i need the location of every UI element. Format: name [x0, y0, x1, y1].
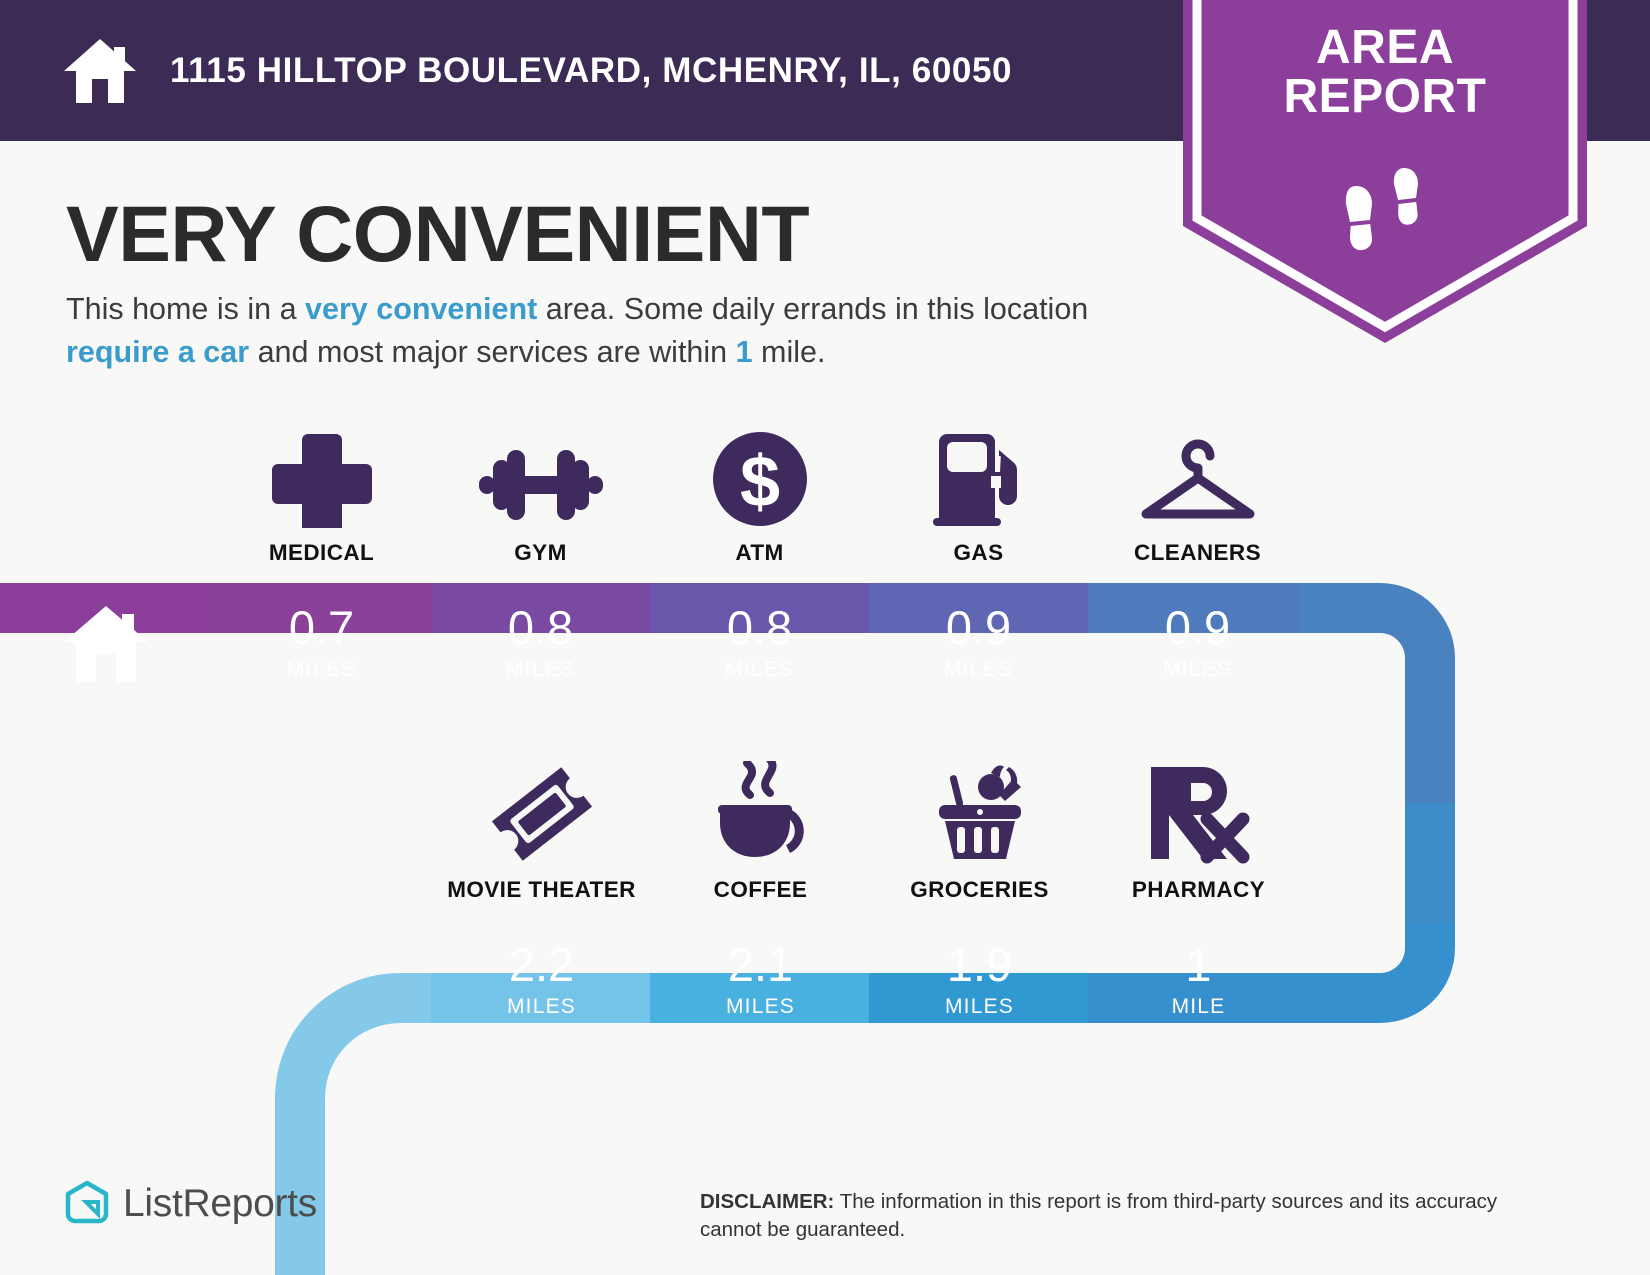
amenity-icon-row-2: MOVIE THEATER COFFEE: [432, 761, 1308, 903]
amenity-gym: GYM: [431, 424, 650, 566]
page-title: VERY CONVENIENT: [66, 188, 809, 280]
svg-text:$: $: [739, 442, 779, 522]
distance-gym: 0.8 MILES: [431, 583, 650, 703]
amenity-atm: $ ATM: [650, 424, 869, 566]
grocery-basket-icon: [870, 761, 1089, 865]
amenity-gas: GAS: [869, 424, 1088, 566]
amenity-label: MEDICAL: [212, 540, 431, 566]
hanger-icon: [1088, 424, 1307, 528]
amenity-cleaners: CLEANERS: [1088, 424, 1307, 566]
amenity-label: COFFEE: [651, 877, 870, 903]
distance-value: 1.9: [947, 941, 1012, 988]
distance-value: 0.8: [508, 604, 573, 651]
amenity-medical: MEDICAL: [212, 424, 431, 566]
badge-line-2: REPORT: [1183, 73, 1587, 122]
distance-value: 0.9: [1165, 604, 1230, 651]
distance-groceries: 1.9 MILES: [870, 920, 1089, 1040]
home-origin-cell: [0, 583, 212, 703]
logo-wordmark: ListReports: [123, 1182, 317, 1226]
distance-unit: MILES: [945, 995, 1014, 1019]
blurb-part-2: area. Some daily errands in this locatio…: [537, 292, 1088, 326]
distance-unit: MILE: [1172, 995, 1226, 1019]
blurb-highlight-2: require a car: [66, 335, 249, 369]
blurb-highlight-3: 1: [736, 335, 753, 369]
distance-pharmacy: 1 MILE: [1089, 920, 1308, 1040]
disclaimer: DISCLAIMER: The information in this repo…: [700, 1188, 1500, 1245]
disclaimer-label: DISCLAIMER:: [700, 1190, 834, 1213]
distance-unit: MILES: [507, 995, 576, 1019]
distance-atm: 0.8 MILES: [650, 583, 869, 703]
blurb-part-3: and most major services are within: [249, 335, 735, 369]
distance-cleaners: 0.9 MILES: [1088, 583, 1307, 703]
distance-value-row-2: 2.2 MILES 2.1 MILES 1.9 MILES 1 MILE: [432, 920, 1308, 1040]
summary-text: This home is in a very convenient area. …: [66, 288, 1126, 375]
movie-ticket-icon: [432, 761, 651, 865]
distance-unit: MILES: [725, 658, 794, 682]
gas-pump-icon: [869, 424, 1088, 528]
distance-value: 0.9: [946, 604, 1011, 651]
distance-coffee: 2.1 MILES: [651, 920, 870, 1040]
amenity-label: CLEANERS: [1088, 540, 1307, 566]
amenity-groceries: GROCERIES: [870, 761, 1089, 903]
coffee-cup-icon: [651, 761, 870, 865]
distance-medical: 0.7 MILES: [212, 583, 431, 703]
dollar-circle-icon: $: [650, 424, 869, 528]
amenity-label: ATM: [650, 540, 869, 566]
amenity-label: GAS: [869, 540, 1088, 566]
distance-value: 2.2: [509, 941, 574, 988]
distance-unit: MILES: [506, 658, 575, 682]
distance-unit: MILES: [726, 995, 795, 1019]
rx-icon: [1089, 761, 1308, 865]
amenity-label: PHARMACY: [1089, 877, 1308, 903]
home-icon: [60, 600, 152, 686]
dumbbell-icon: [431, 424, 650, 528]
amenity-label: GYM: [431, 540, 650, 566]
distance-value-row-1: 0.7 MILES 0.8 MILES 0.8 MILES 0.9 MILES …: [212, 583, 1307, 703]
amenity-coffee: COFFEE: [651, 761, 870, 903]
badge-title: AREA REPORT: [1183, 24, 1587, 122]
distance-value: 0.7: [289, 604, 354, 651]
badge-line-1: AREA: [1183, 24, 1587, 73]
distance-value: 1: [1185, 941, 1211, 988]
distance-unit: MILES: [944, 658, 1013, 682]
listreports-logo[interactable]: ListReports: [64, 1180, 317, 1228]
distance-value: 0.8: [727, 604, 792, 651]
medical-cross-icon: [212, 424, 431, 528]
area-report-badge: AREA REPORT: [1183, 0, 1587, 343]
blurb-highlight-1: very convenient: [305, 292, 537, 326]
distance-unit: MILES: [1163, 658, 1232, 682]
amenity-pharmacy: PHARMACY: [1089, 761, 1308, 903]
amenity-label: GROCERIES: [870, 877, 1089, 903]
property-address: 1115 HILLTOP BOULEVARD, MCHENRY, IL, 600…: [170, 51, 1012, 91]
home-icon: [62, 35, 138, 107]
distance-movie-theater: 2.2 MILES: [432, 920, 651, 1040]
distance-gas: 0.9 MILES: [869, 583, 1088, 703]
distance-value: 2.1: [728, 941, 793, 988]
footprints-icon: [1332, 164, 1440, 252]
distance-unit: MILES: [287, 658, 356, 682]
area-report-page: 1115 HILLTOP BOULEVARD, MCHENRY, IL, 600…: [0, 0, 1650, 1275]
amenity-movie-theater: MOVIE THEATER: [432, 761, 651, 903]
amenity-icon-row-1: MEDICAL GYM: [212, 424, 1307, 566]
amenity-label: MOVIE THEATER: [432, 877, 651, 903]
blurb-part-1: This home is in a: [66, 292, 305, 326]
blurb-part-4: mile.: [753, 335, 826, 369]
listreports-house-icon: [64, 1180, 110, 1228]
